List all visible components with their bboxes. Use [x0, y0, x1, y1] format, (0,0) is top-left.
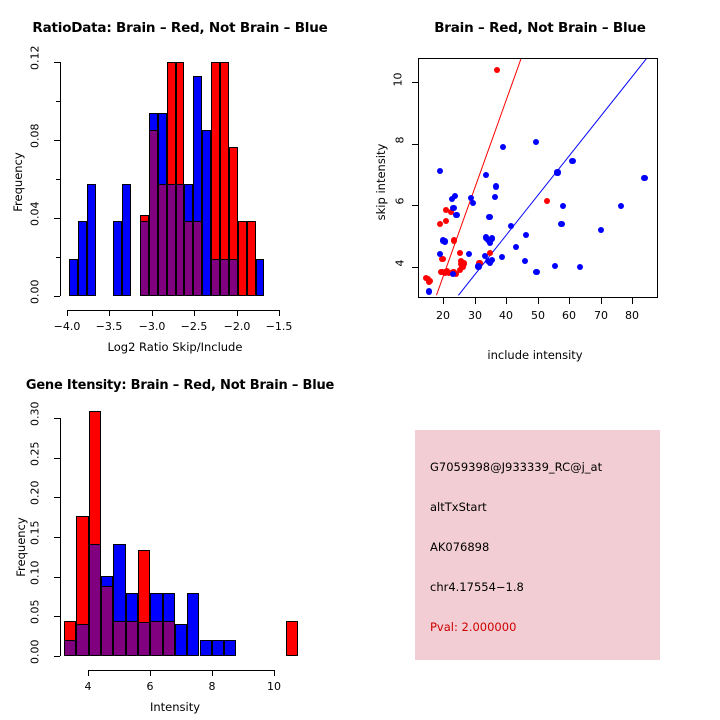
- pval-text: Pval: 2.000000: [430, 620, 516, 634]
- ratio-x-axis-label: Log2 Ratio Skip/Include: [55, 340, 295, 354]
- scatter-ytick-label: 10: [392, 73, 405, 93]
- scatter-point: [486, 214, 492, 220]
- scatter-point: [470, 200, 476, 206]
- histogram-bar-overlap: [163, 621, 175, 656]
- histogram-bar: [78, 221, 87, 296]
- scatter-point: [453, 212, 459, 218]
- scatter-point: [533, 269, 539, 275]
- histogram-bar-overlap: [113, 621, 125, 656]
- histogram-bar: [113, 221, 122, 296]
- scatter-point: [522, 258, 528, 264]
- locus-text: chr4.17554−1.8: [430, 580, 524, 594]
- scatter-point: [489, 257, 495, 263]
- scatter-ytick-label: 8: [394, 137, 407, 153]
- ratio-xtick-label: −4.0: [47, 320, 87, 333]
- scatter-xtick: [538, 298, 539, 304]
- panel-gene-intensity-histogram: Gene Itensity: Brain – Red, Not Brain – …: [0, 360, 360, 720]
- histogram-bar-overlap: [140, 221, 149, 296]
- ratio-xtick-label: −2.0: [217, 320, 257, 333]
- scatter-xtick: [632, 298, 633, 304]
- histogram-bar-overlap: [229, 259, 238, 296]
- panel-annotation-info: G7059398@J933339_RC@j_at altTxStart AK07…: [360, 360, 720, 720]
- histogram-bar-overlap: [138, 622, 150, 656]
- scatter-point: [508, 223, 514, 229]
- scatter-point: [560, 203, 566, 209]
- histogram-bar: [69, 259, 78, 296]
- histogram-bar-overlap: [158, 184, 167, 296]
- histogram-bar-overlap: [176, 184, 185, 296]
- scatter-ytick-label: 4: [394, 260, 407, 276]
- scatter-point: [554, 169, 560, 175]
- scatter-point: [494, 67, 500, 73]
- gene-xtick-label: 6: [130, 680, 170, 693]
- scatter-data-area: [419, 59, 657, 297]
- histogram-bar: [286, 621, 298, 656]
- ratio-xtick-label: −2.5: [174, 320, 214, 333]
- histogram-bar: [175, 624, 187, 656]
- histogram-bar: [212, 640, 224, 656]
- histogram-bar-overlap: [101, 586, 113, 656]
- scatter-point: [598, 227, 604, 233]
- scatter-point: [457, 250, 463, 256]
- scatter-y-axis-label: skip intensity: [374, 137, 388, 227]
- scatter-point: [499, 254, 505, 260]
- scatter-point: [437, 251, 443, 257]
- histogram-bar-overlap: [184, 221, 193, 296]
- ratio-xtick-label: −3.5: [89, 320, 129, 333]
- histogram-bar-overlap: [167, 184, 176, 296]
- scatter-ytick: [412, 205, 418, 206]
- scatter-point: [427, 278, 433, 284]
- histogram-bar-overlap: [149, 130, 158, 296]
- scatter-point: [513, 244, 519, 250]
- scatter-point: [466, 251, 472, 257]
- scatter-point: [641, 175, 647, 181]
- histogram-bar-overlap: [76, 624, 88, 656]
- scatter-point: [437, 168, 443, 174]
- histogram-bar-overlap: [220, 259, 229, 296]
- scatter-point: [489, 235, 495, 241]
- histogram-bar-overlap: [89, 544, 101, 656]
- scatter-xtick-label: 80: [612, 309, 652, 322]
- panel-intensity-scatter: Brain – Red, Not Brain – Blue skip inten…: [360, 0, 720, 360]
- scatter-point: [544, 198, 550, 204]
- scatter-point: [492, 194, 498, 200]
- event-type-text: altTxStart: [430, 500, 487, 514]
- scatter-point: [618, 203, 624, 209]
- scatter-ytick-label: 6: [394, 198, 407, 214]
- gene-x-axis-label: Intensity: [55, 700, 295, 714]
- scatter-point: [461, 260, 467, 266]
- scatter-ytick: [412, 144, 418, 145]
- scatter-xtick: [601, 298, 602, 304]
- accession-text: AK076898: [430, 540, 489, 554]
- scatter-title: Brain – Red, Not Brain – Blue: [360, 20, 720, 36]
- histogram-bar-overlap: [64, 640, 76, 656]
- gene-xtick-label: 10: [254, 680, 294, 693]
- scatter-point: [552, 263, 558, 269]
- histogram-bar: [202, 130, 211, 296]
- gene-xtick-label: 4: [68, 680, 108, 693]
- scatter-ytick: [412, 267, 418, 268]
- histogram-bar-overlap: [126, 621, 138, 656]
- scatter-xtick: [569, 298, 570, 304]
- scatter-xtick: [475, 298, 476, 304]
- scatter-point: [443, 218, 449, 224]
- scatter-point: [577, 264, 583, 270]
- ratio-xtick-label: −3.0: [132, 320, 172, 333]
- scatter-point: [437, 221, 443, 227]
- scatter-point: [451, 237, 457, 243]
- ratio-xtick-label: −1.5: [259, 320, 299, 333]
- ratio-histogram-bars: [0, 0, 360, 312]
- scatter-point: [442, 238, 448, 244]
- scatter-point: [450, 205, 456, 211]
- scatter-ytick: [412, 82, 418, 83]
- figure-canvas: RatioData: Brain – Red, Not Brain – Blue…: [0, 0, 720, 720]
- histogram-bar: [187, 593, 199, 656]
- histogram-bar: [200, 640, 212, 656]
- scatter-point: [533, 139, 539, 145]
- histogram-bar: [87, 184, 96, 296]
- scatter-point: [483, 172, 489, 178]
- probe-id-text: G7059398@J933339_RC@j_at: [430, 460, 602, 474]
- scatter-point: [449, 196, 455, 202]
- histogram-bar-overlap: [193, 221, 202, 296]
- gene-xtick-label: 8: [192, 680, 232, 693]
- scatter-point: [457, 267, 463, 273]
- histogram-bar-overlap: [150, 621, 162, 656]
- gene-histogram-bars: [0, 360, 360, 672]
- histogram-bar: [256, 259, 265, 296]
- panel-ratio-histogram: RatioData: Brain – Red, Not Brain – Blue…: [0, 0, 360, 360]
- histogram-bar: [247, 221, 256, 296]
- scatter-point: [523, 232, 529, 238]
- scatter-xtick: [506, 298, 507, 304]
- scatter-point: [558, 221, 564, 227]
- scatter-point: [500, 144, 506, 150]
- scatter-point: [493, 183, 499, 189]
- scatter-xtick: [443, 298, 444, 304]
- scatter-point: [569, 158, 575, 164]
- histogram-bar: [224, 640, 236, 656]
- histogram-bar: [122, 184, 131, 296]
- scatter-point: [475, 263, 481, 269]
- histogram-bar: [238, 221, 247, 296]
- scatter-point: [426, 288, 432, 294]
- histogram-bar-overlap: [211, 259, 220, 296]
